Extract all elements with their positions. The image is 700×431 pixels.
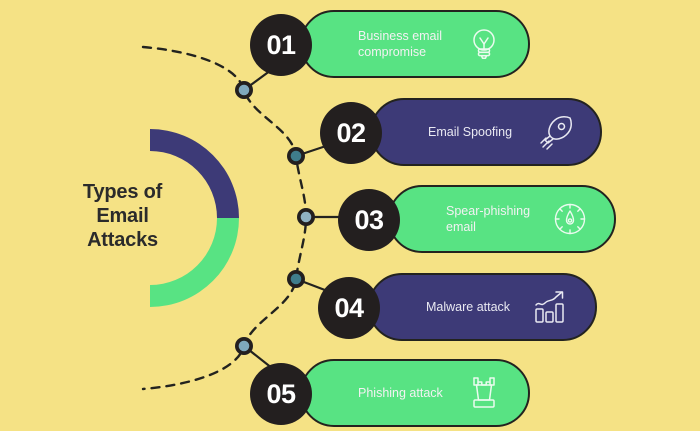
connector-node-01-core	[239, 85, 250, 96]
compass-icon	[550, 199, 590, 239]
connector-node-04-core	[291, 274, 302, 285]
item-pill-01[interactable]: Business email compromise	[300, 10, 530, 78]
item-label-04: Malware attack	[426, 299, 510, 315]
growth-chart-icon	[531, 287, 571, 327]
item-label-05: Phishing attack	[358, 385, 443, 401]
item-label-03: Spear-phishing email	[446, 203, 550, 235]
item-badge-03[interactable]: 03	[338, 189, 400, 251]
item-label-01: Business email compromise	[358, 28, 464, 60]
item-pill-02[interactable]: Email Spoofing	[370, 98, 602, 166]
title-line-2: Email	[40, 204, 205, 228]
connector-node-03-core	[301, 212, 312, 223]
item-number-04: 04	[334, 293, 363, 324]
item-pill-03[interactable]: Spear-phishing email	[388, 185, 616, 253]
connector-nodes	[235, 81, 315, 355]
item-badge-04[interactable]: 04	[318, 277, 380, 339]
rocket-icon	[536, 112, 576, 152]
item-badge-02[interactable]: 02	[320, 102, 382, 164]
item-pill-04[interactable]: Malware attack	[368, 273, 597, 341]
title-line-1: Types of	[40, 180, 205, 204]
title-line-3: Attacks	[40, 228, 205, 252]
item-pill-05[interactable]: Phishing attack	[300, 359, 530, 427]
chess-rook-icon	[464, 373, 504, 413]
item-number-03: 03	[354, 205, 383, 236]
lightbulb-icon	[464, 24, 504, 64]
item-badge-05[interactable]: 05	[250, 363, 312, 425]
infographic-canvas: Types of Email Attacks Business email co…	[0, 0, 700, 431]
item-label-02: Email Spoofing	[428, 124, 512, 140]
item-number-02: 02	[336, 118, 365, 149]
page-title: Types of Email Attacks	[40, 180, 205, 252]
item-badge-01[interactable]: 01	[250, 14, 312, 76]
connector-node-05-core	[239, 341, 250, 352]
item-number-05: 05	[266, 379, 295, 410]
item-number-01: 01	[266, 30, 295, 61]
connector-node-02-core	[291, 151, 302, 162]
